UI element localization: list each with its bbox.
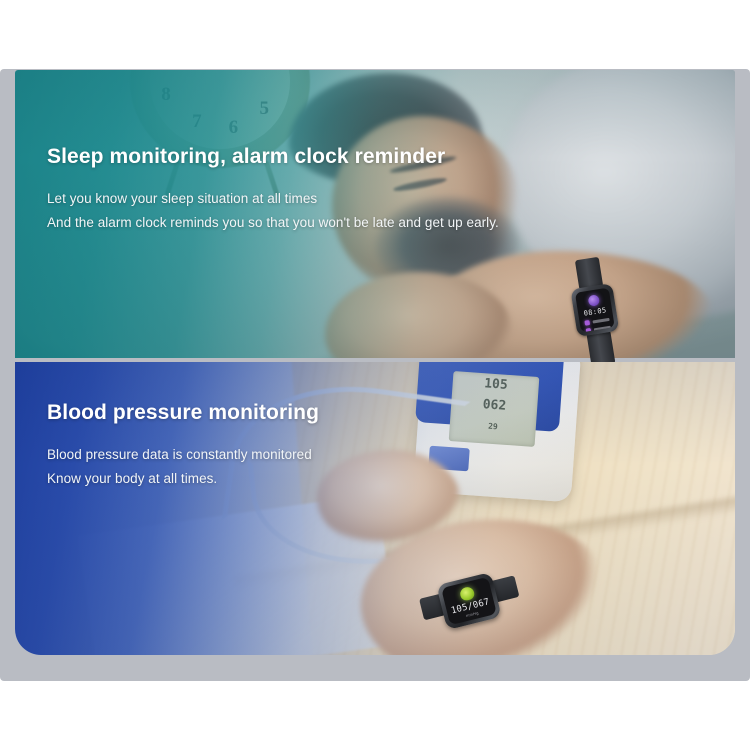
moon-icon (587, 294, 600, 307)
watch-screen: 08:05 (575, 288, 615, 333)
stat-bar (594, 325, 611, 331)
blood-pressure-subline-1: Blood pressure data is constantly monito… (47, 443, 319, 467)
stat-bar (592, 317, 609, 323)
blood-pressure-headline: Blood pressure monitoring (47, 400, 319, 426)
blood-pressure-subline-2: Know your body at all times. (47, 467, 319, 491)
blood-pressure-subline-wrap: Blood pressure data is constantly monito… (47, 443, 319, 491)
sleep-subline-1: Let you know your sleep situation at all… (47, 187, 499, 211)
blood-pressure-copy-block: Blood pressure monitoring Blood pressure… (47, 400, 319, 491)
sleep-headline: Sleep monitoring, alarm clock reminder (47, 144, 499, 170)
watch-stat-row-2 (585, 324, 611, 333)
sleep-subline-wrap: Let you know your sleep situation at all… (47, 187, 499, 235)
sleep-subline-2: And the alarm clock reminds you so that … (47, 211, 499, 235)
stat-dot-icon (584, 320, 590, 326)
product-feature-banner-page: 8 7 6 5 08 (0, 0, 750, 750)
sleep-copy-block: Sleep monitoring, alarm clock reminder L… (47, 144, 499, 235)
watch-screen: 105/067 mmHg (441, 577, 497, 625)
heart-icon (459, 586, 476, 602)
stat-dot-icon (586, 327, 592, 332)
watch-case: 08:05 (570, 283, 619, 337)
